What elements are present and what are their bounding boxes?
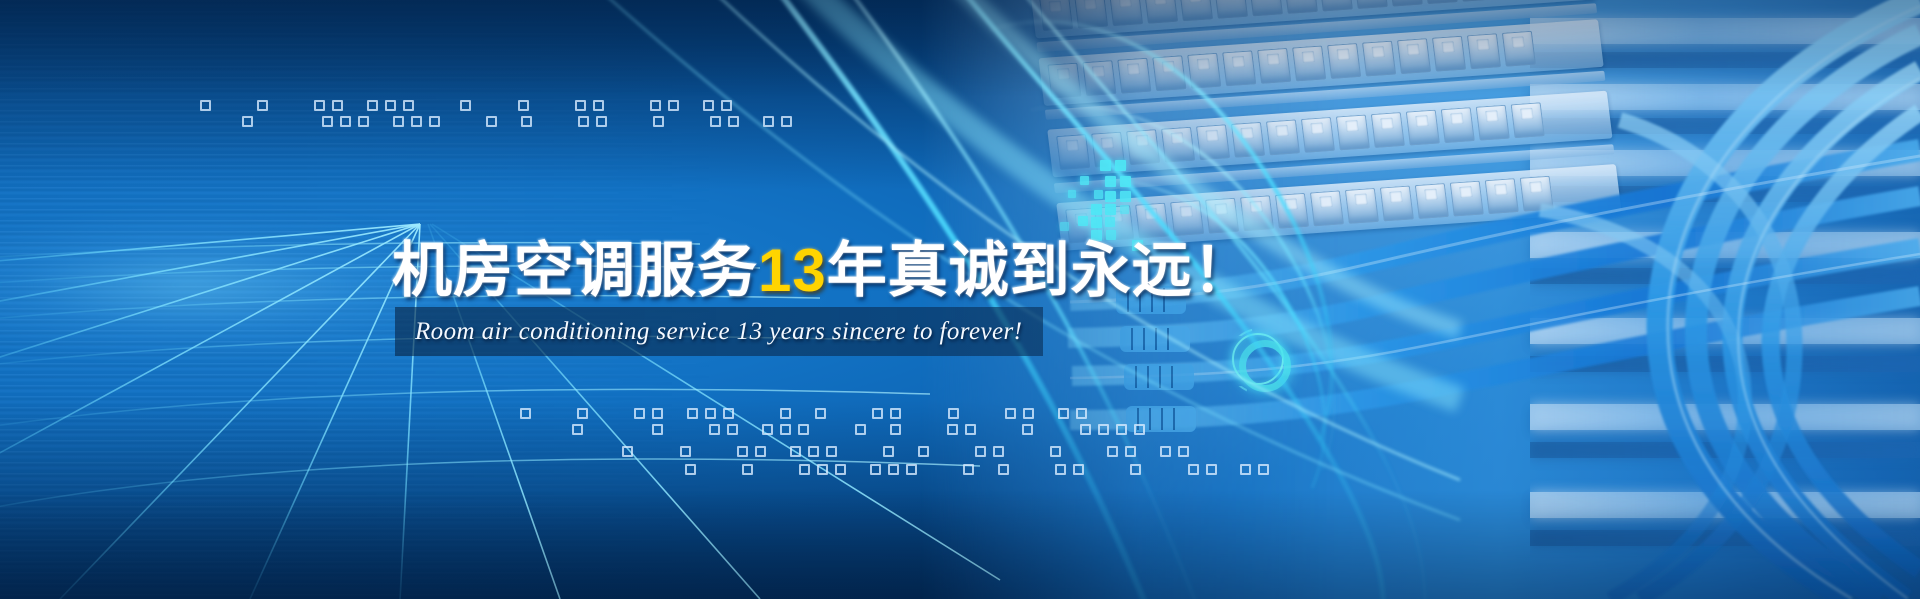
square-pattern-top (200, 100, 900, 160)
headline-number: 13 (758, 237, 827, 304)
subtitle-text: Room air conditioning service 13 years s… (415, 307, 1035, 356)
glowing-ring-icon (1232, 333, 1284, 385)
headline-prefix: 机房空调服务 (392, 237, 758, 304)
headline-suffix: 年真诚到永远！ (827, 237, 1254, 304)
square-pattern-bottom (520, 408, 1280, 498)
page-title: 机房空调服务13年真诚到永远！ (392, 240, 1254, 302)
promo-banner: 机房空调服务13年真诚到永远！ Room air conditioning se… (0, 0, 1920, 599)
